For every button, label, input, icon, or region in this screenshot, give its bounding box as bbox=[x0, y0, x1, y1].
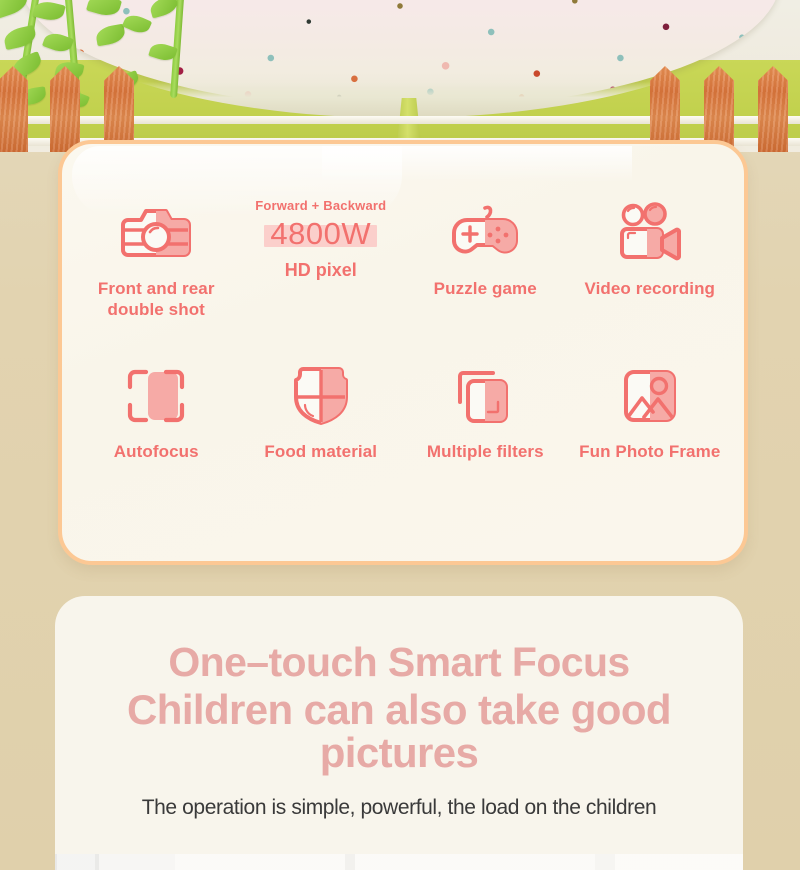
headline-line-1: One–touch Smart Focus bbox=[55, 642, 743, 684]
photo-frame-icon bbox=[620, 359, 680, 433]
feature-autofocus[interactable]: Autofocus bbox=[74, 359, 239, 522]
feature-label: Autofocus bbox=[114, 441, 199, 462]
features-grid: Front and rear double shot Forward + Bac… bbox=[62, 144, 744, 561]
headline-card: One–touch Smart Focus Children can also … bbox=[55, 596, 743, 870]
feature-food-material[interactable]: Food material bbox=[239, 359, 404, 522]
feature-hd-pixel[interactable]: Forward + Backward 4800W HD pixel bbox=[239, 196, 404, 359]
features-row-2: Autofocus bbox=[74, 359, 732, 522]
pixel-value: 4800W bbox=[270, 217, 371, 251]
feature-label: Video recording bbox=[584, 278, 715, 299]
feature-label: Multiple filters bbox=[427, 441, 544, 462]
video-camera-icon bbox=[617, 196, 683, 270]
feature-label: Front and rear double shot bbox=[98, 278, 215, 321]
features-card: Front and rear double shot Forward + Bac… bbox=[58, 140, 748, 565]
feature-fun-photo-frame[interactable]: Fun Photo Frame bbox=[568, 359, 733, 522]
shield-icon bbox=[292, 359, 350, 433]
feature-label: Puzzle game bbox=[434, 278, 537, 299]
pixel-highlight: 4800W bbox=[264, 217, 377, 251]
feature-front-rear-double-shot[interactable]: Front and rear double shot bbox=[74, 196, 239, 359]
picket-fence bbox=[0, 64, 800, 152]
feature-label: Fun Photo Frame bbox=[579, 441, 720, 462]
pixel-sub-text: HD pixel bbox=[285, 260, 357, 281]
pixel-top-text: Forward + Backward bbox=[255, 198, 386, 213]
autofocus-bracket-icon bbox=[126, 359, 186, 433]
dual-camera-icon bbox=[121, 196, 191, 270]
features-row-1: Front and rear double shot Forward + Bac… bbox=[74, 196, 732, 359]
next-section-preview bbox=[55, 854, 743, 870]
feature-label: Food material bbox=[264, 441, 377, 462]
product-detail-page: Front and rear double shot Forward + Bac… bbox=[0, 0, 800, 870]
gamepad-icon bbox=[451, 196, 519, 270]
layers-filter-icon bbox=[454, 359, 516, 433]
headline-subtitle: The operation is simple, powerful, the l… bbox=[55, 796, 743, 820]
hero-photo-scene bbox=[0, 0, 800, 152]
feature-puzzle-game[interactable]: Puzzle game bbox=[403, 196, 568, 359]
feature-video-recording[interactable]: Video recording bbox=[568, 196, 733, 359]
headline-line-2: Children can also take good pictures bbox=[55, 689, 743, 775]
feature-multiple-filters[interactable]: Multiple filters bbox=[403, 359, 568, 522]
